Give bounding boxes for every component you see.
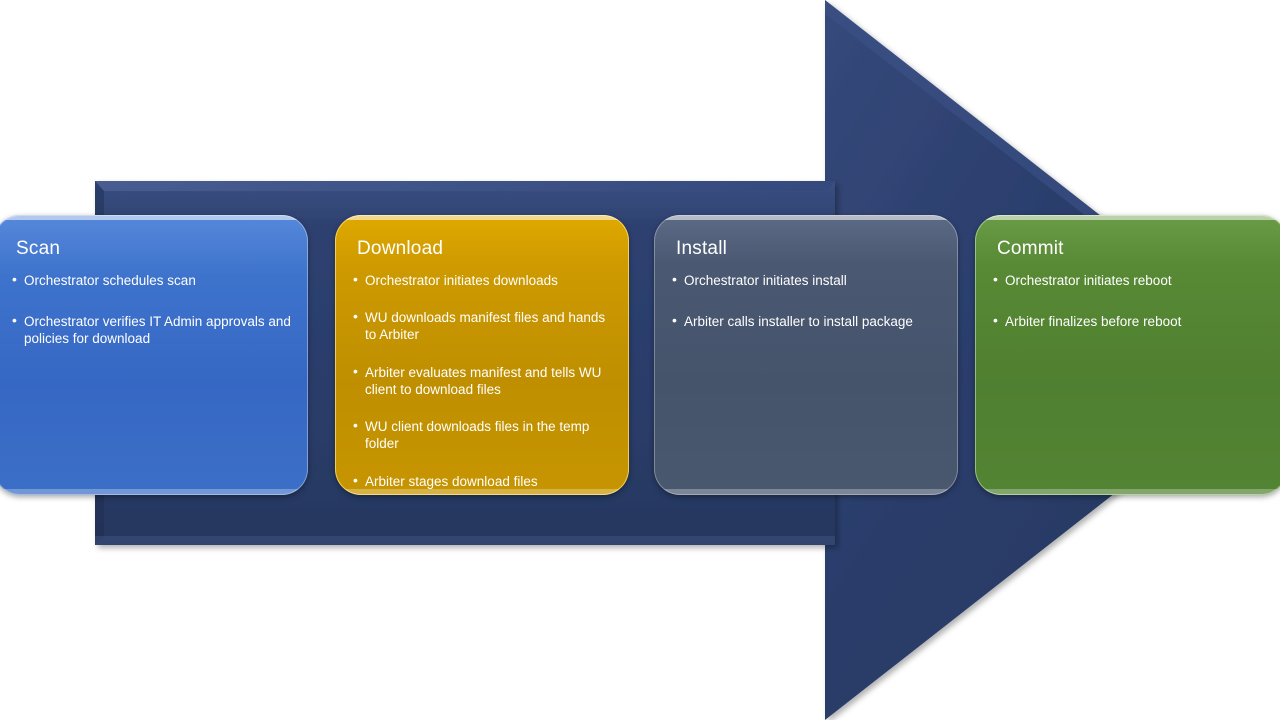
list-item: Orchestrator initiates install [668,272,942,289]
list-item: Arbiter stages download files [349,473,613,490]
list-item: WU client downloads files in the temp fo… [349,418,613,453]
list-item: Orchestrator initiates downloads [349,272,613,289]
list-item: Arbiter evaluates manifest and tells WU … [349,364,613,399]
phase-bullets-install: Orchestrator initiates install Arbiter c… [668,272,942,331]
phase-title-download: Download [357,239,613,260]
list-item: Orchestrator schedules scan [8,272,292,289]
list-item: Arbiter calls installer to install packa… [668,313,942,330]
phase-card-download[interactable]: Download Orchestrator initiates download… [335,215,629,495]
phase-card-scan[interactable]: Scan Orchestrator schedules scan Orchest… [0,215,308,495]
phase-title-commit: Commit [997,239,1271,260]
list-item: WU downloads manifest files and hands to… [349,309,613,344]
phase-card-commit[interactable]: Commit Orchestrator initiates reboot Arb… [975,215,1280,495]
list-item: Orchestrator verifies IT Admin approvals… [8,313,292,348]
phase-title-install: Install [676,239,942,260]
phase-card-install[interactable]: Install Orchestrator initiates install A… [654,215,958,495]
phase-bullets-commit: Orchestrator initiates reboot Arbiter fi… [989,272,1271,331]
list-item: Arbiter finalizes before reboot [989,313,1271,330]
phase-bullets-scan: Orchestrator schedules scan Orchestrator… [8,272,292,348]
phase-title-scan: Scan [16,239,292,260]
list-item: Orchestrator initiates reboot [989,272,1271,289]
phase-bullets-download: Orchestrator initiates downloads WU down… [349,272,613,490]
diagram-canvas: Scan Orchestrator schedules scan Orchest… [0,0,1280,720]
